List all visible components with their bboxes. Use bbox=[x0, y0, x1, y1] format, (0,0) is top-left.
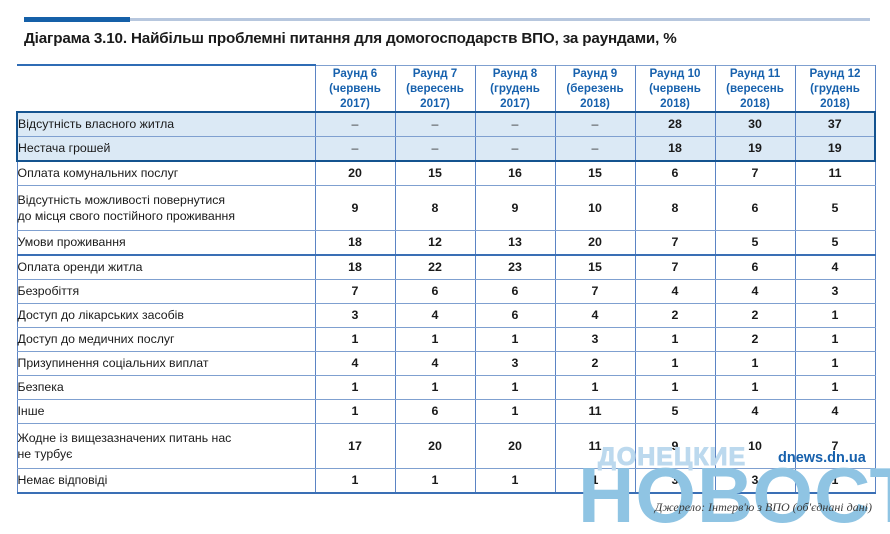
header-period-label: (грудень bbox=[796, 81, 875, 96]
header-year-label: 2017) bbox=[316, 96, 395, 111]
data-cell: 20 bbox=[315, 161, 395, 186]
row-label-line: Відсутність можливості повернутися bbox=[18, 192, 315, 208]
header-period-label: (вересень bbox=[716, 81, 795, 96]
data-cell: 1 bbox=[555, 375, 635, 399]
data-cell: 7 bbox=[795, 423, 875, 468]
data-cell: 9 bbox=[315, 185, 395, 230]
row-label-line: Оплата оренди житла bbox=[18, 260, 315, 275]
data-cell: 3 bbox=[555, 327, 635, 351]
data-cell: 18 bbox=[315, 230, 395, 255]
header-row: Раунд 6 (червень 2017) Раунд 7 (вересень… bbox=[17, 65, 875, 112]
header-year-label: 2017) bbox=[476, 96, 555, 111]
data-cell: 6 bbox=[715, 255, 795, 280]
data-cell: 3 bbox=[475, 351, 555, 375]
data-cell: 1 bbox=[475, 399, 555, 423]
data-cell: – bbox=[555, 136, 635, 161]
data-cell: 1 bbox=[475, 327, 555, 351]
table-row: Безпека1111111 bbox=[17, 375, 875, 399]
data-cell: 5 bbox=[795, 185, 875, 230]
data-cell: 28 bbox=[635, 112, 715, 137]
header-period-label: (грудень bbox=[476, 81, 555, 96]
data-cell: 4 bbox=[395, 351, 475, 375]
data-cell: – bbox=[395, 136, 475, 161]
data-cell: 8 bbox=[395, 185, 475, 230]
header-year-label: 2018) bbox=[636, 96, 715, 111]
data-cell: 12 bbox=[395, 230, 475, 255]
table-row: Відсутність можливості повернутисядо міс… bbox=[17, 185, 875, 230]
header-cell-blank bbox=[17, 65, 315, 112]
table-row: Призупинення соціальних виплат4432111 bbox=[17, 351, 875, 375]
data-cell: 20 bbox=[555, 230, 635, 255]
data-cell: 6 bbox=[475, 279, 555, 303]
data-cell: 1 bbox=[315, 468, 395, 493]
data-cell: 4 bbox=[795, 255, 875, 280]
data-cell: 2 bbox=[715, 303, 795, 327]
data-cell: 6 bbox=[395, 399, 475, 423]
data-cell: 2 bbox=[555, 351, 635, 375]
data-cell: 1 bbox=[635, 375, 715, 399]
table-row: Жодне із вищезазначених питань насне тур… bbox=[17, 423, 875, 468]
data-cell: 6 bbox=[475, 303, 555, 327]
header-year-label: 2017) bbox=[396, 96, 475, 111]
data-cell: 4 bbox=[635, 279, 715, 303]
data-cell: 10 bbox=[715, 423, 795, 468]
header-period-label: (червень bbox=[636, 81, 715, 96]
data-cell: 1 bbox=[315, 399, 395, 423]
table-row: Доступ до медичних послуг1113121 bbox=[17, 327, 875, 351]
data-cell: 4 bbox=[715, 279, 795, 303]
data-cell: 20 bbox=[475, 423, 555, 468]
data-cell: 7 bbox=[555, 279, 635, 303]
table-row: Інше16111544 bbox=[17, 399, 875, 423]
data-cell: – bbox=[315, 136, 395, 161]
data-cell: 3 bbox=[635, 468, 715, 493]
data-cell: 4 bbox=[395, 303, 475, 327]
table-row: Оплата комунальних послуг201516156711 bbox=[17, 161, 875, 186]
row-label: Умови проживання bbox=[17, 230, 315, 255]
header-round-label: Раунд 9 bbox=[556, 66, 635, 81]
row-label: Відсутність власного житла bbox=[17, 112, 315, 137]
data-cell: 11 bbox=[555, 423, 635, 468]
accent-bar-dark bbox=[24, 17, 130, 22]
data-cell: 16 bbox=[475, 161, 555, 186]
data-cell: 1 bbox=[795, 327, 875, 351]
row-label-line: Доступ до медичних послуг bbox=[18, 332, 315, 347]
header-cell-round-9: Раунд 9 (березень 2018) bbox=[555, 65, 635, 112]
row-label: Інше bbox=[17, 399, 315, 423]
data-cell: 1 bbox=[395, 375, 475, 399]
data-cell: 1 bbox=[795, 468, 875, 493]
data-cell: 7 bbox=[635, 255, 715, 280]
data-cell: – bbox=[475, 136, 555, 161]
header-round-label: Раунд 6 bbox=[316, 66, 395, 81]
data-cell: 1 bbox=[395, 468, 475, 493]
row-label-line: Доступ до лікарських засобів bbox=[18, 308, 315, 323]
row-label: Нестача грошей bbox=[17, 136, 315, 161]
table-row: Нестача грошей––––181919 bbox=[17, 136, 875, 161]
row-label-line: до місця свого постійного проживання bbox=[18, 208, 315, 224]
row-label: Оплата комунальних послуг bbox=[17, 161, 315, 186]
table-body: Відсутність власного житла––––283037Нест… bbox=[17, 112, 875, 493]
data-cell: 37 bbox=[795, 112, 875, 137]
header-cell-round-8: Раунд 8 (грудень 2017) bbox=[475, 65, 555, 112]
data-cell: 7 bbox=[635, 230, 715, 255]
data-cell: 1 bbox=[795, 303, 875, 327]
data-cell: – bbox=[475, 112, 555, 137]
source-note: Джерело: Інтерв'ю з ВПО (об'єднані дані) bbox=[655, 500, 872, 515]
row-label: Безробіття bbox=[17, 279, 315, 303]
row-label-line: Жодне із вищезазначених питань нас bbox=[18, 430, 315, 446]
data-cell: 13 bbox=[475, 230, 555, 255]
row-label: Оплата оренди житла bbox=[17, 255, 315, 280]
header-round-label: Раунд 11 bbox=[716, 66, 795, 81]
data-cell: 1 bbox=[395, 327, 475, 351]
data-cell: 11 bbox=[555, 399, 635, 423]
data-cell: 4 bbox=[715, 399, 795, 423]
row-label: Немає відповіді bbox=[17, 468, 315, 493]
data-cell: 18 bbox=[635, 136, 715, 161]
header-round-label: Раунд 7 bbox=[396, 66, 475, 81]
table-row: Доступ до лікарських засобів3464221 bbox=[17, 303, 875, 327]
top-accent-bar bbox=[24, 17, 870, 22]
row-label-line: Умови проживання bbox=[18, 235, 315, 250]
table-row: Умови проживання18121320755 bbox=[17, 230, 875, 255]
header-period-label: (вересень bbox=[396, 81, 475, 96]
data-cell: – bbox=[555, 112, 635, 137]
data-cell: 8 bbox=[635, 185, 715, 230]
data-cell: 3 bbox=[715, 468, 795, 493]
header-cell-round-11: Раунд 11 (вересень 2018) bbox=[715, 65, 795, 112]
data-cell: 15 bbox=[555, 255, 635, 280]
data-cell: 1 bbox=[795, 351, 875, 375]
header-round-label: Раунд 10 bbox=[636, 66, 715, 81]
data-cell: 4 bbox=[795, 399, 875, 423]
data-cell: 15 bbox=[395, 161, 475, 186]
row-label-line: Безпека bbox=[18, 380, 315, 395]
data-cell: 18 bbox=[315, 255, 395, 280]
table-row: Оплата оренди житла18222315764 bbox=[17, 255, 875, 280]
data-cell: 11 bbox=[795, 161, 875, 186]
data-cell: 4 bbox=[315, 351, 395, 375]
header-round-label: Раунд 8 bbox=[476, 66, 555, 81]
header-year-label: 2018) bbox=[556, 96, 635, 111]
header-cell-round-10: Раунд 10 (червень 2018) bbox=[635, 65, 715, 112]
header-year-label: 2018) bbox=[796, 96, 875, 111]
chart-page: Діаграма 3.10. Найбільш проблемні питанн… bbox=[0, 0, 890, 534]
row-label-line: Призупинення соціальних виплат bbox=[18, 356, 315, 371]
data-cell: 1 bbox=[555, 468, 635, 493]
data-cell: 20 bbox=[395, 423, 475, 468]
data-cell: 5 bbox=[715, 230, 795, 255]
data-cell: 2 bbox=[715, 327, 795, 351]
data-cell: 1 bbox=[635, 327, 715, 351]
page-title: Діаграма 3.10. Найбільш проблемні питанн… bbox=[24, 30, 870, 47]
data-cell: 1 bbox=[635, 351, 715, 375]
header-year-label: 2018) bbox=[716, 96, 795, 111]
table-row: Немає відповіді1111331 bbox=[17, 468, 875, 493]
data-cell: 1 bbox=[475, 468, 555, 493]
header-cell-round-6: Раунд 6 (червень 2017) bbox=[315, 65, 395, 112]
data-cell: 4 bbox=[555, 303, 635, 327]
data-cell: 1 bbox=[315, 375, 395, 399]
accent-line-light bbox=[24, 18, 870, 21]
data-cell: 9 bbox=[475, 185, 555, 230]
data-cell: 19 bbox=[715, 136, 795, 161]
header-cell-round-12: Раунд 12 (грудень 2018) bbox=[795, 65, 875, 112]
data-cell: 23 bbox=[475, 255, 555, 280]
row-label-line: Нестача грошей bbox=[18, 141, 315, 156]
data-table-container: Раунд 6 (червень 2017) Раунд 7 (вересень… bbox=[16, 64, 874, 494]
data-cell: 19 bbox=[795, 136, 875, 161]
data-cell: 5 bbox=[635, 399, 715, 423]
data-cell: – bbox=[315, 112, 395, 137]
data-cell: 17 bbox=[315, 423, 395, 468]
table-row: Безробіття7667443 bbox=[17, 279, 875, 303]
data-cell: 3 bbox=[315, 303, 395, 327]
row-label-line: не турбує bbox=[18, 446, 315, 462]
data-cell: 1 bbox=[475, 375, 555, 399]
row-label-line: Відсутність власного житла bbox=[18, 117, 315, 132]
data-cell: 15 bbox=[555, 161, 635, 186]
data-cell: 1 bbox=[795, 375, 875, 399]
data-cell: 1 bbox=[715, 375, 795, 399]
data-cell: 7 bbox=[315, 279, 395, 303]
table-header: Раунд 6 (червень 2017) Раунд 7 (вересень… bbox=[17, 65, 875, 112]
row-label-line: Інше bbox=[18, 404, 315, 419]
header-round-label: Раунд 12 bbox=[796, 66, 875, 81]
data-cell: 1 bbox=[315, 327, 395, 351]
data-cell: 2 bbox=[635, 303, 715, 327]
data-cell: 3 bbox=[795, 279, 875, 303]
header-cell-round-7: Раунд 7 (вересень 2017) bbox=[395, 65, 475, 112]
data-cell: 5 bbox=[795, 230, 875, 255]
row-label: Жодне із вищезазначених питань насне тур… bbox=[17, 423, 315, 468]
data-cell: 6 bbox=[635, 161, 715, 186]
data-cell: 22 bbox=[395, 255, 475, 280]
row-label: Доступ до лікарських засобів bbox=[17, 303, 315, 327]
table-row: Відсутність власного житла––––283037 bbox=[17, 112, 875, 137]
row-label: Безпека bbox=[17, 375, 315, 399]
row-label: Призупинення соціальних виплат bbox=[17, 351, 315, 375]
row-label: Доступ до медичних послуг bbox=[17, 327, 315, 351]
problem-issues-table: Раунд 6 (червень 2017) Раунд 7 (вересень… bbox=[16, 64, 876, 494]
row-label-line: Безробіття bbox=[18, 284, 315, 299]
data-cell: 1 bbox=[715, 351, 795, 375]
data-cell: 7 bbox=[715, 161, 795, 186]
data-cell: 9 bbox=[635, 423, 715, 468]
data-cell: 10 bbox=[555, 185, 635, 230]
row-label-line: Оплата комунальних послуг bbox=[18, 166, 315, 181]
row-label-line: Немає відповіді bbox=[18, 473, 315, 488]
data-cell: 6 bbox=[395, 279, 475, 303]
data-cell: – bbox=[395, 112, 475, 137]
data-cell: 6 bbox=[715, 185, 795, 230]
data-cell: 30 bbox=[715, 112, 795, 137]
row-label: Відсутність можливості повернутисядо міс… bbox=[17, 185, 315, 230]
header-period-label: (червень bbox=[316, 81, 395, 96]
header-period-label: (березень bbox=[556, 81, 635, 96]
